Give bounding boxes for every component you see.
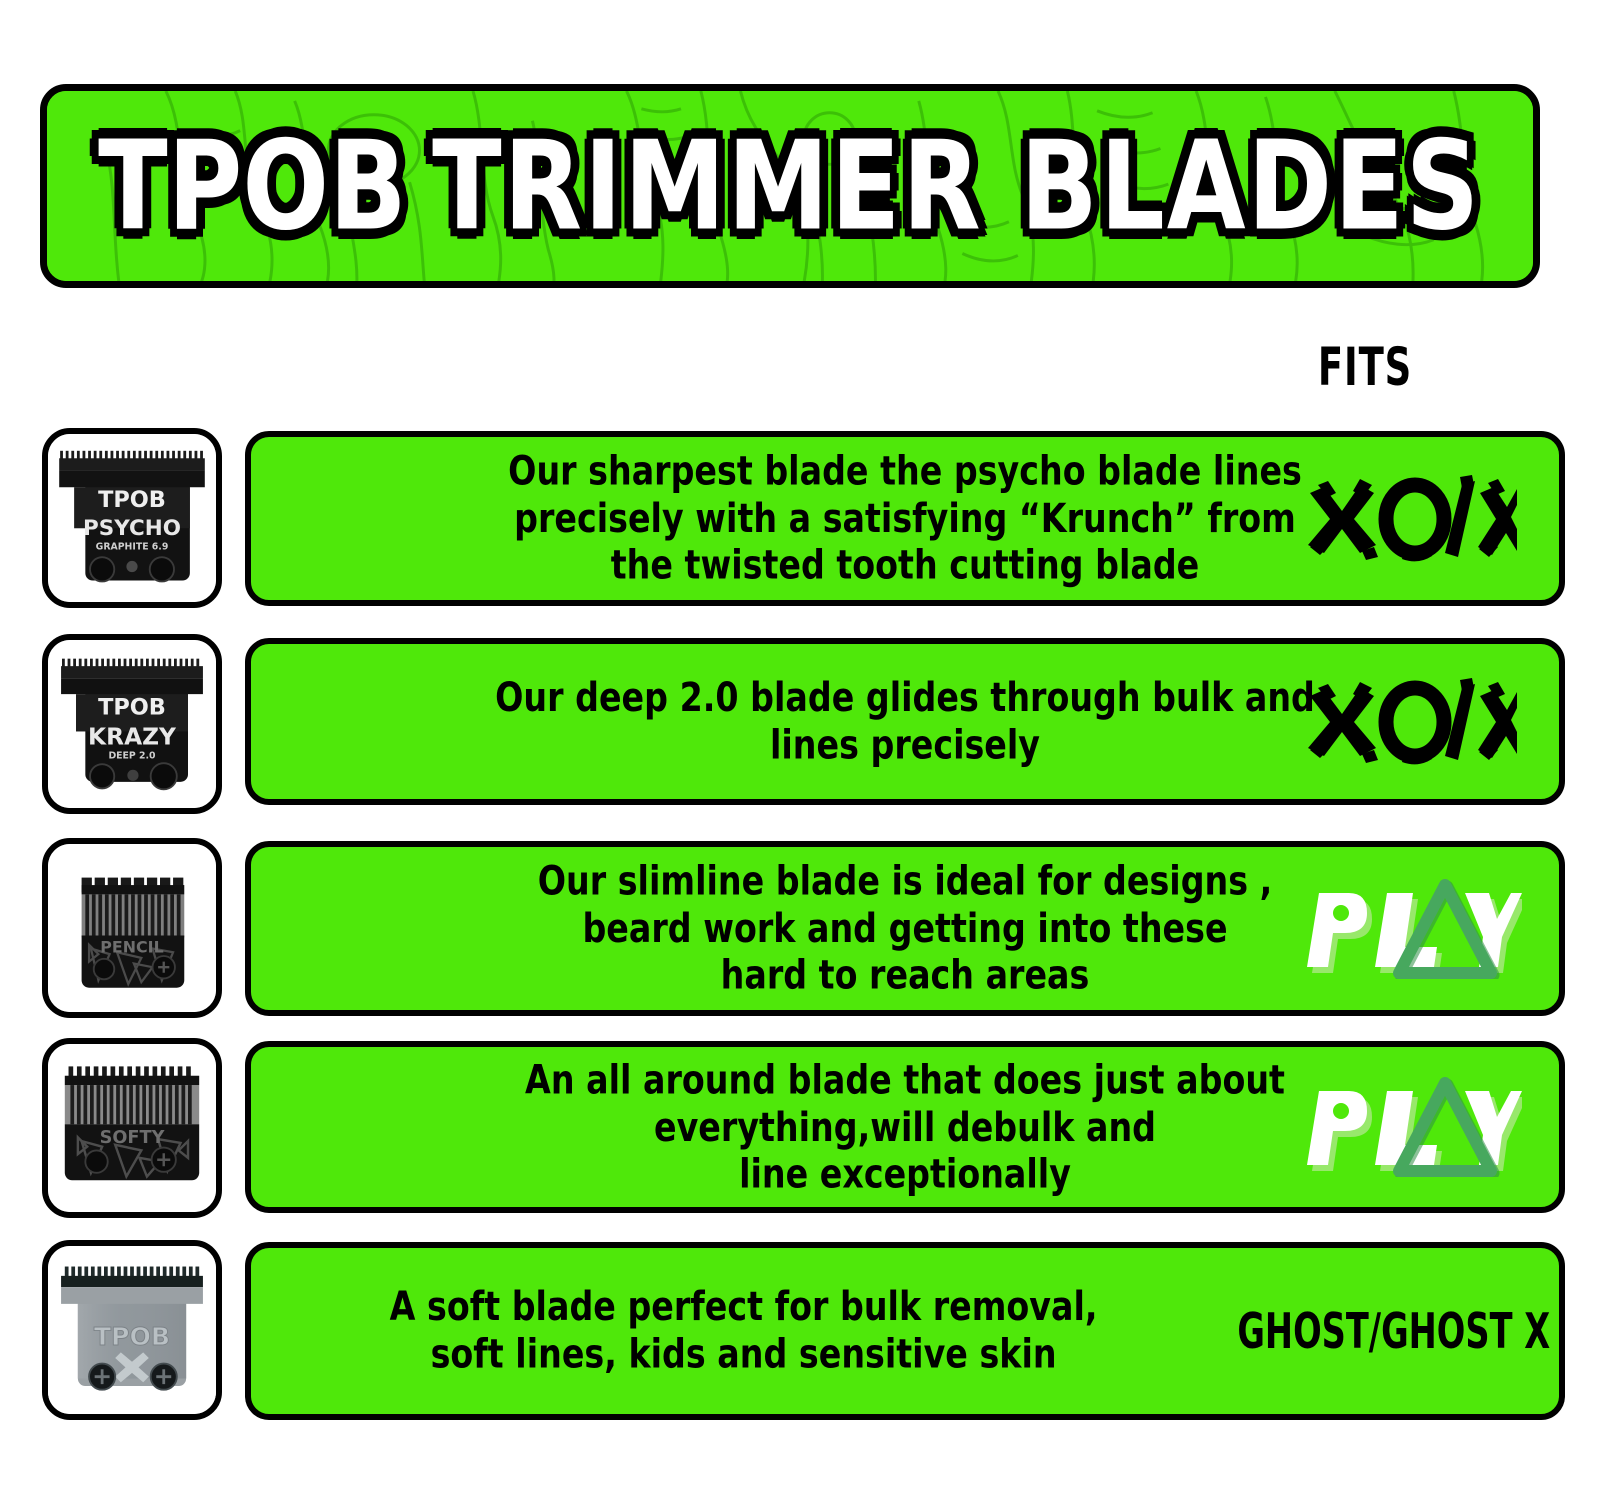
thumbnail-psycho[interactable]: TPOB PSYCHO GRAPHITE 6.9 xyxy=(42,428,222,608)
desc-line: An all around blade that does just about xyxy=(324,1056,1487,1103)
description-panel-softy: An all around blade that does just about… xyxy=(245,1041,1565,1213)
description-text-softy: An all around blade that does just about… xyxy=(316,1056,1493,1197)
svg-text:KRAZY: KRAZY xyxy=(88,723,177,751)
thumbnail-pencil[interactable]: PENCIL xyxy=(42,838,222,1018)
svg-text:GRAPHITE 6.9: GRAPHITE 6.9 xyxy=(96,542,169,553)
banner-title-tpob: TPOB xyxy=(99,114,408,258)
description-panel-krazy: Our deep 2.0 blade glides through bulk a… xyxy=(245,638,1565,805)
header-banner: TPOBTRIMMER BLADES xyxy=(40,84,1540,288)
thumbnail-ghost[interactable]: TPOB xyxy=(42,1240,222,1420)
svg-text:PSYCHO: PSYCHO xyxy=(83,516,181,541)
desc-line: A soft blade perfect for bulk removal, xyxy=(307,1284,1180,1331)
desc-line: lines precisely xyxy=(324,722,1487,769)
description-panel-pencil: Our slimline blade is ideal for designs … xyxy=(245,841,1565,1016)
page-title: TPOBTRIMMER BLADES xyxy=(99,114,1482,258)
description-text-pencil: Our slimline blade is ideal for designs … xyxy=(316,858,1493,999)
thumbnail-softy[interactable]: SOFTY xyxy=(42,1038,222,1218)
fits-slot-ghost: GHOST/GHOST X xyxy=(1229,1307,1559,1355)
desc-line: the twisted tooth cutting blade xyxy=(324,542,1487,589)
softy-blade-icon: SOFTY xyxy=(48,1044,216,1212)
desc-line: line exceptionally xyxy=(324,1151,1487,1198)
banner-title-rest: TRIMMER BLADES xyxy=(433,114,1482,258)
ghost-blade-icon: TPOB xyxy=(48,1246,216,1414)
svg-text:TPOB: TPOB xyxy=(94,1322,170,1351)
description-panel-ghost: A soft blade perfect for bulk removal, s… xyxy=(245,1242,1565,1420)
description-panel-psycho: Our sharpest blade the psycho blade line… xyxy=(245,431,1565,606)
desc-line: hard to reach areas xyxy=(324,952,1487,999)
svg-text:TPOB: TPOB xyxy=(98,695,166,721)
fits-column-label: FITS xyxy=(1277,336,1453,397)
blade-row-pencil: PENCIL Our slimline blade is ideal for d… xyxy=(0,838,1600,1018)
svg-text:PENCIL: PENCIL xyxy=(100,937,163,956)
desc-line: beard work and getting into these xyxy=(324,905,1487,952)
svg-text:TPOB: TPOB xyxy=(98,487,166,513)
desc-line: soft lines, kids and sensitive skin xyxy=(307,1331,1180,1378)
desc-line: Our slimline blade is ideal for designs … xyxy=(324,858,1487,905)
banner-title-wrap: TPOBTRIMMER BLADES xyxy=(47,91,1533,281)
description-text-ghost: A soft blade perfect for bulk removal, s… xyxy=(300,1284,1180,1378)
desc-line: Our deep 2.0 blade glides through bulk a… xyxy=(324,674,1487,721)
blade-row-krazy: TPOB KRAZY DEEP 2.0 Our deep 2.0 blade g… xyxy=(0,634,1600,809)
blade-row-psycho: TPOB PSYCHO GRAPHITE 6.9 Our sharpest bl… xyxy=(0,428,1600,608)
psycho-blade-icon: TPOB PSYCHO GRAPHITE 6.9 xyxy=(48,434,216,602)
desc-line: everything,will debulk and xyxy=(324,1103,1487,1150)
thumbnail-krazy[interactable]: TPOB KRAZY DEEP 2.0 xyxy=(42,634,222,814)
blade-row-softy: SOFTY An all around blade that does just… xyxy=(0,1038,1600,1218)
description-text-psycho: Our sharpest blade the psycho blade line… xyxy=(316,448,1493,589)
svg-text:SOFTY: SOFTY xyxy=(100,1128,165,1148)
ghost-fit-label: GHOST/GHOST X xyxy=(1238,1302,1551,1360)
desc-line: Our sharpest blade the psycho blade line… xyxy=(324,448,1487,495)
krazy-blade-icon: TPOB KRAZY DEEP 2.0 xyxy=(48,640,216,808)
svg-text:DEEP 2.0: DEEP 2.0 xyxy=(108,751,156,762)
blade-row-ghost: TPOB A soft blade perfect for bulk remov… xyxy=(0,1240,1600,1420)
description-text-krazy: Our deep 2.0 blade glides through bulk a… xyxy=(316,674,1493,768)
desc-line: precisely with a satisfying “Krunch” fro… xyxy=(324,495,1487,542)
pencil-blade-icon: PENCIL xyxy=(48,844,216,1012)
